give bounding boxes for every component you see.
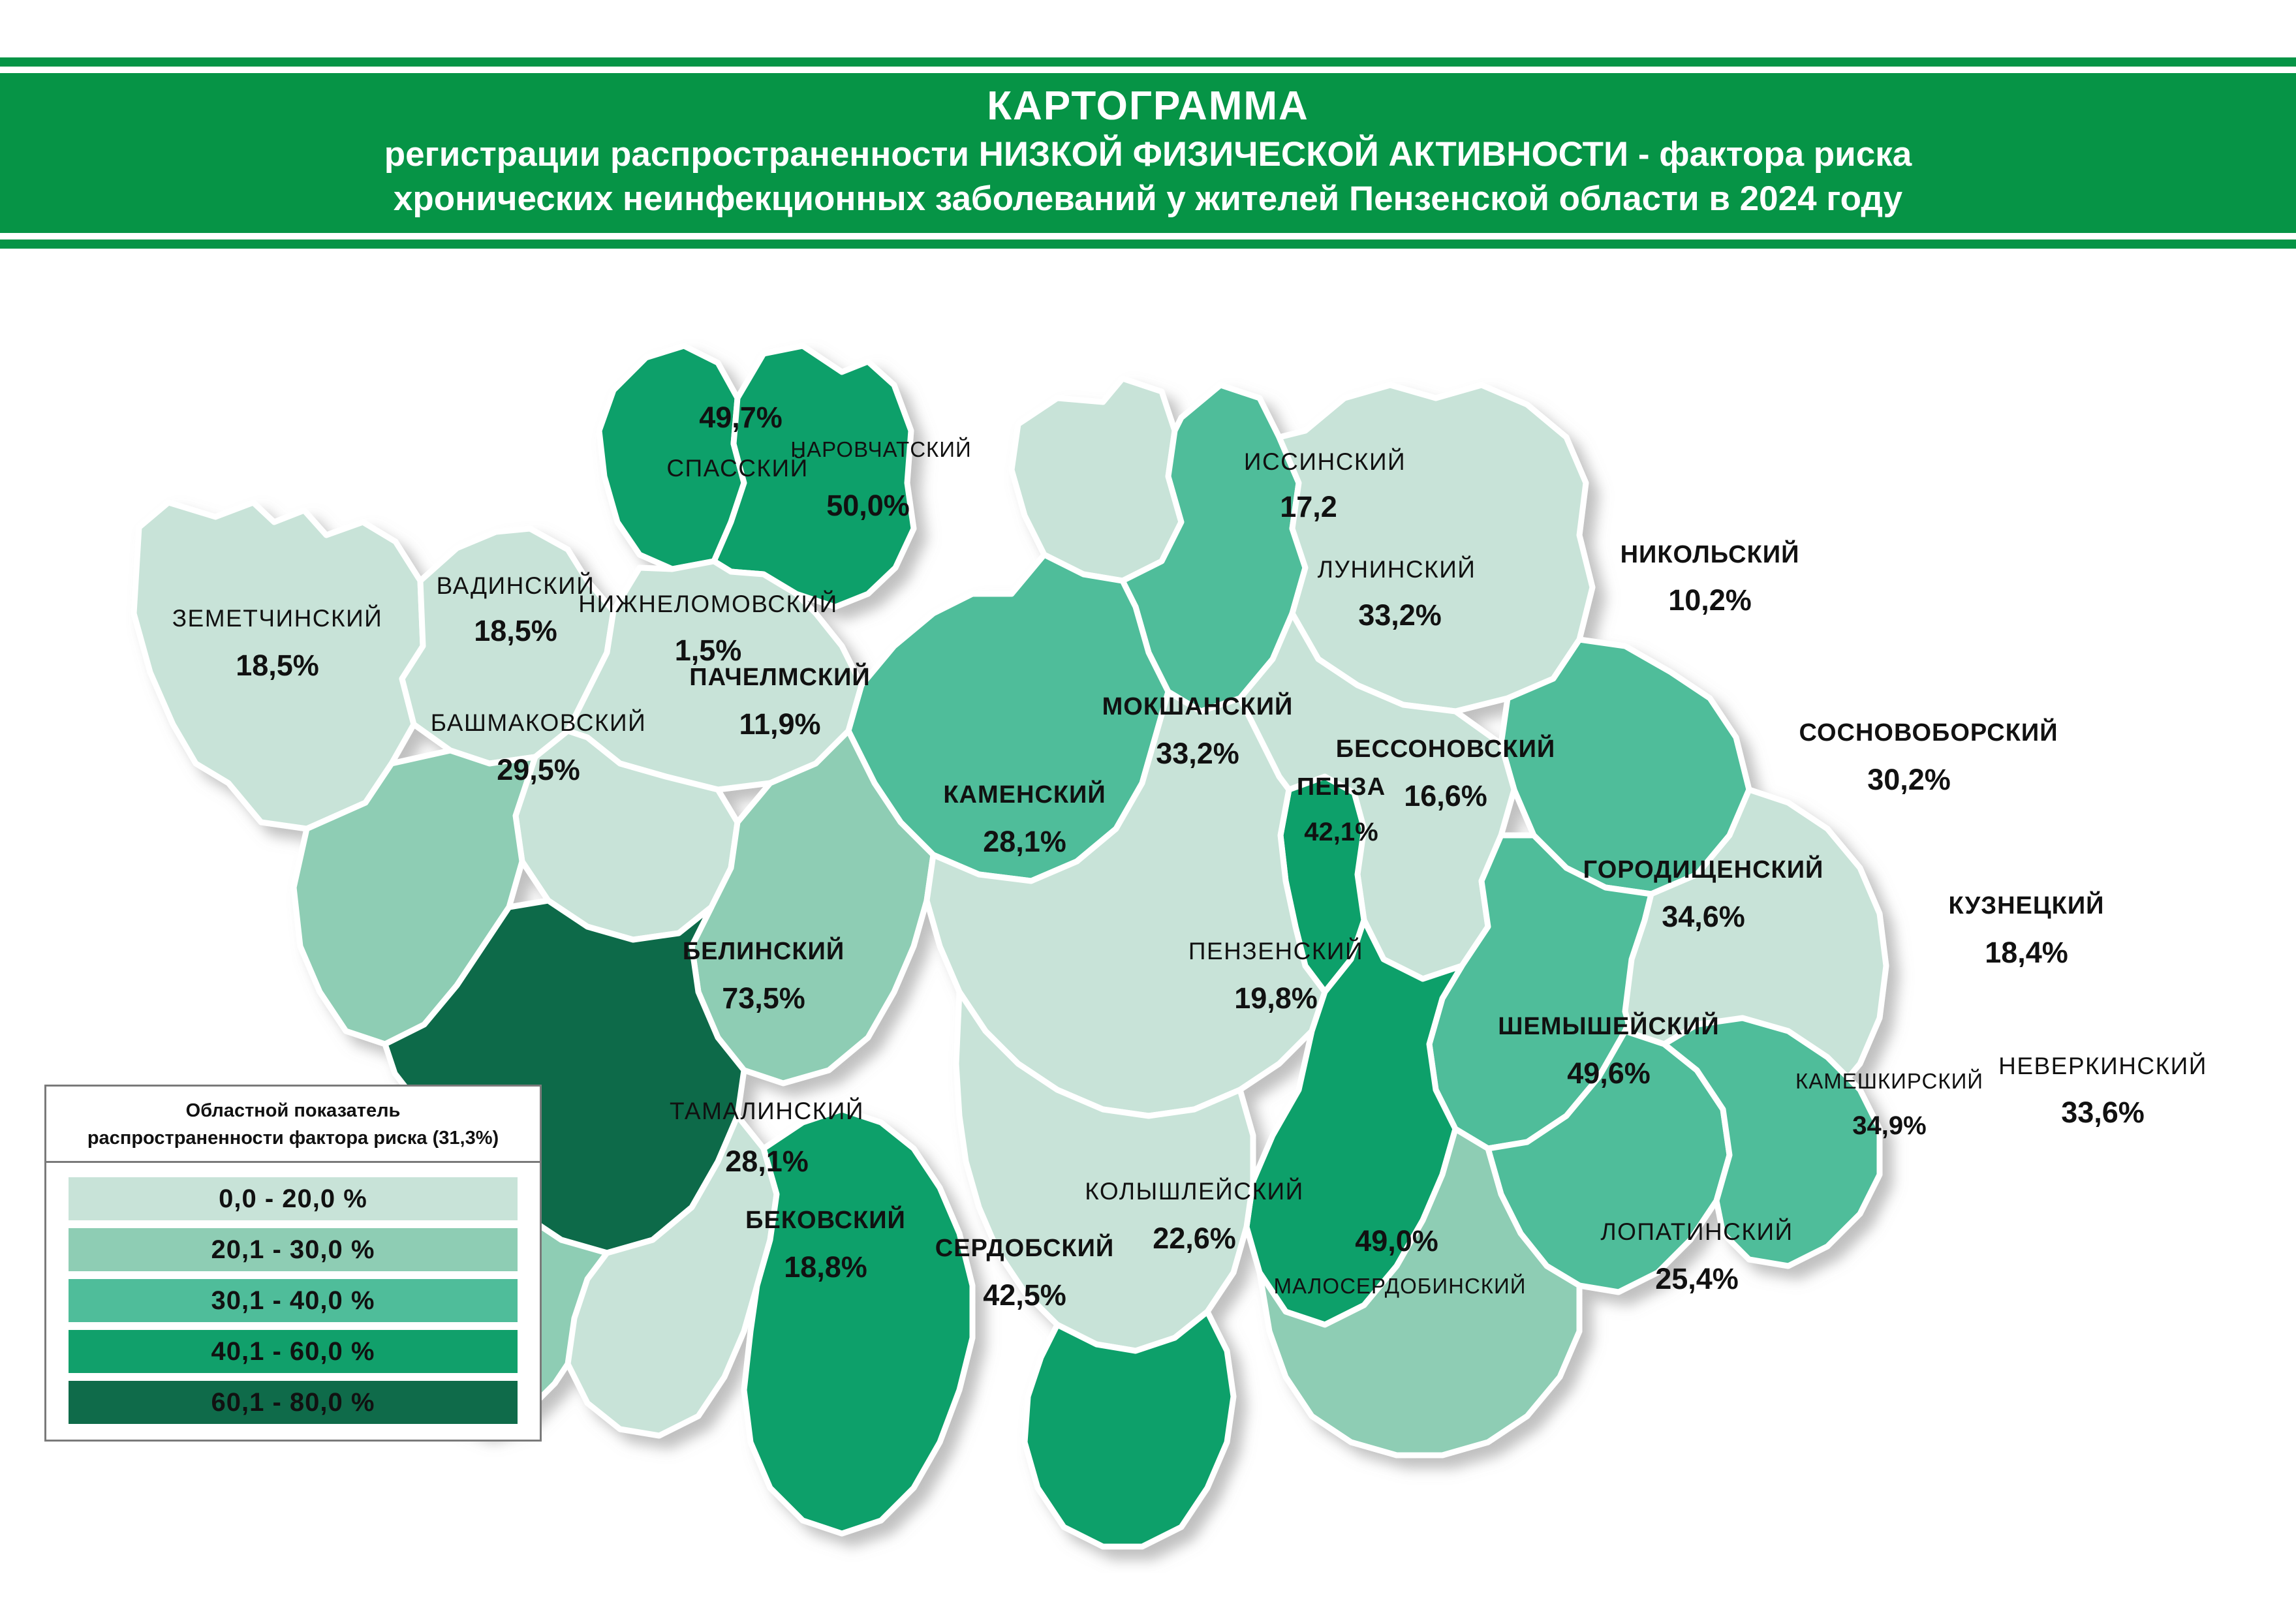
svg-text:19,8%: 19,8% [1234, 981, 1318, 1015]
svg-text:ГОРОДИЩЕНСКИЙ: ГОРОДИЩЕНСКИЙ [1583, 854, 1824, 884]
svg-text:18,8%: 18,8% [784, 1250, 867, 1284]
legend-title-line2: распространенности фактора риска (31,3%) [53, 1124, 533, 1152]
svg-text:49,0%: 49,0% [1355, 1224, 1438, 1258]
svg-text:11,9%: 11,9% [739, 707, 820, 741]
legend-label-0: 0,0 - 20,0 % [219, 1184, 367, 1214]
legend-row-3[interactable]: 40,1 - 60,0 % [69, 1330, 518, 1373]
svg-text:ИССИНСКИЙ: ИССИНСКИЙ [1244, 448, 1406, 475]
legend-header: Областной показатель распространенности … [46, 1087, 540, 1163]
legend: Областной показатель распространенности … [44, 1085, 542, 1442]
legend-row-1[interactable]: 20,1 - 30,0 % [69, 1228, 518, 1271]
svg-text:ЗЕМЕТЧИНСКИЙ: ЗЕМЕТЧИНСКИЙ [172, 604, 383, 632]
svg-text:28,1%: 28,1% [725, 1145, 809, 1178]
svg-text:МАЛОСЕРДОБИНСКИЙ: МАЛОСЕРДОБИНСКИЙ [1274, 1274, 1527, 1298]
legend-rows: 0,0 - 20,0 % 20,1 - 30,0 % 30,1 - 40,0 %… [46, 1163, 540, 1440]
district-issinsky[interactable] [1012, 378, 1181, 581]
legend-label-3: 40,1 - 60,0 % [211, 1337, 375, 1366]
svg-text:ПАЧЕЛМСКИЙ: ПАЧЕЛМСКИЙ [689, 662, 870, 691]
header-bottom-rule [0, 239, 2296, 249]
svg-text:50,0%: 50,0% [826, 489, 910, 522]
svg-text:КАМЕШКИРСКИЙ: КАМЕШКИРСКИЙ [1795, 1069, 1983, 1093]
svg-text:22,6%: 22,6% [1153, 1222, 1236, 1255]
svg-text:БЕЛИНСКИЙ: БЕЛИНСКИЙ [683, 936, 845, 965]
legend-label-1: 20,1 - 30,0 % [211, 1235, 375, 1265]
legend-label-2: 30,1 - 40,0 % [211, 1286, 375, 1316]
svg-text:КОЛЫШЛЕЙСКИЙ: КОЛЫШЛЕЙСКИЙ [1085, 1177, 1303, 1205]
svg-text:СЕРДОБСКИЙ: СЕРДОБСКИЙ [935, 1233, 1114, 1262]
header-banner-body: КАРТОГРАММА регистрации распространеннос… [0, 73, 2296, 233]
header-subtitle-line1: регистрации распространенности НИЗКОЙ ФИ… [0, 132, 2296, 177]
svg-text:СОСНОВОБОРСКИЙ: СОСНОВОБОРСКИЙ [1799, 717, 2058, 747]
svg-text:18,5%: 18,5% [474, 614, 557, 647]
svg-text:33,6%: 33,6% [2061, 1096, 2145, 1129]
svg-text:ПЕНЗА: ПЕНЗА [1297, 773, 1386, 801]
district-maloserdobinsky[interactable] [1025, 1312, 1233, 1547]
svg-text:ПЕНЗЕНСКИЙ: ПЕНЗЕНСКИЙ [1188, 937, 1363, 965]
label-nikolsky: НИКОЛЬСКИЙ 10,2% [1621, 539, 1800, 617]
svg-text:ВАДИНСКИЙ: ВАДИНСКИЙ [437, 572, 595, 599]
svg-text:33,2%: 33,2% [1358, 598, 1442, 632]
header-subtitle-line2: хронических неинфекционных заболеваний у… [0, 177, 2296, 221]
svg-text:25,4%: 25,4% [1655, 1262, 1739, 1295]
page-title: КАРТОГРАММА [0, 82, 2296, 130]
svg-text:42,5%: 42,5% [983, 1278, 1066, 1312]
legend-row-4[interactable]: 60,1 - 80,0 % [69, 1381, 518, 1424]
legend-row-2[interactable]: 30,1 - 40,0 % [69, 1279, 518, 1322]
svg-text:СПАССКИЙ: СПАССКИЙ [666, 454, 808, 482]
svg-text:18,5%: 18,5% [236, 649, 319, 682]
legend-row-0[interactable]: 0,0 - 20,0 % [69, 1177, 518, 1220]
svg-text:29,5%: 29,5% [497, 753, 580, 786]
svg-text:НЕВЕРКИНСКИЙ: НЕВЕРКИНСКИЙ [1998, 1052, 2207, 1079]
svg-text:30,2%: 30,2% [1867, 763, 1951, 796]
svg-text:10,2%: 10,2% [1668, 583, 1752, 617]
label-kuznetsky: КУЗНЕЦКИЙ 18,4% [1949, 890, 2105, 969]
svg-text:34,9%: 34,9% [1852, 1111, 1926, 1140]
svg-text:18,4%: 18,4% [1985, 936, 2068, 969]
header-top-gap [0, 67, 2296, 73]
svg-text:49,7%: 49,7% [699, 401, 783, 434]
svg-text:НАРОВЧАТСКИЙ: НАРОВЧАТСКИЙ [790, 437, 971, 461]
header-top-rule [0, 57, 2296, 67]
svg-text:33,2%: 33,2% [1156, 737, 1239, 770]
svg-text:16,6%: 16,6% [1404, 779, 1487, 812]
svg-text:БАШМАКОВСКИЙ: БАШМАКОВСКИЙ [431, 709, 646, 736]
legend-title-line1: Областной показатель [53, 1097, 533, 1124]
header-banner: КАРТОГРАММА регистрации распространеннос… [0, 57, 2296, 249]
svg-text:БЕКОВСКИЙ: БЕКОВСКИЙ [745, 1205, 906, 1234]
svg-text:МОКШАНСКИЙ: МОКШАНСКИЙ [1102, 691, 1294, 720]
svg-text:ЛОПАТИНСКИЙ: ЛОПАТИНСКИЙ [1600, 1218, 1793, 1245]
legend-label-4: 60,1 - 80,0 % [211, 1388, 375, 1417]
svg-text:ШЕМЫШЕЙСКИЙ: ШЕМЫШЕЙСКИЙ [1498, 1011, 1720, 1040]
svg-text:НИЖНЕЛОМОВСКИЙ: НИЖНЕЛОМОВСКИЙ [578, 590, 837, 617]
svg-text:42,1%: 42,1% [1304, 818, 1378, 846]
svg-text:ТАМАЛИНСКИЙ: ТАМАЛИНСКИЙ [670, 1097, 864, 1124]
svg-text:28,1%: 28,1% [983, 825, 1066, 858]
svg-text:49,6%: 49,6% [1567, 1057, 1651, 1090]
svg-text:КАМЕНСКИЙ: КАМЕНСКИЙ [943, 779, 1106, 809]
label-sosnovoborsky: СОСНОВОБОРСКИЙ 30,2% [1799, 717, 2058, 796]
svg-text:73,5%: 73,5% [722, 981, 805, 1015]
svg-text:17,2: 17,2 [1280, 490, 1337, 523]
label-neverkinsky: НЕВЕРКИНСКИЙ 33,6% [1998, 1052, 2207, 1129]
header-bottom-gap [0, 233, 2296, 239]
svg-text:1,5%: 1,5% [675, 634, 742, 667]
svg-text:34,6%: 34,6% [1662, 900, 1745, 933]
svg-text:БЕССОНОВСКИЙ: БЕССОНОВСКИЙ [1336, 733, 1555, 763]
svg-text:КУЗНЕЦКИЙ: КУЗНЕЦКИЙ [1949, 890, 2105, 919]
svg-text:ЛУНИНСКИЙ: ЛУНИНСКИЙ [1318, 555, 1476, 583]
svg-text:НИКОЛЬСКИЙ: НИКОЛЬСКИЙ [1621, 539, 1800, 568]
